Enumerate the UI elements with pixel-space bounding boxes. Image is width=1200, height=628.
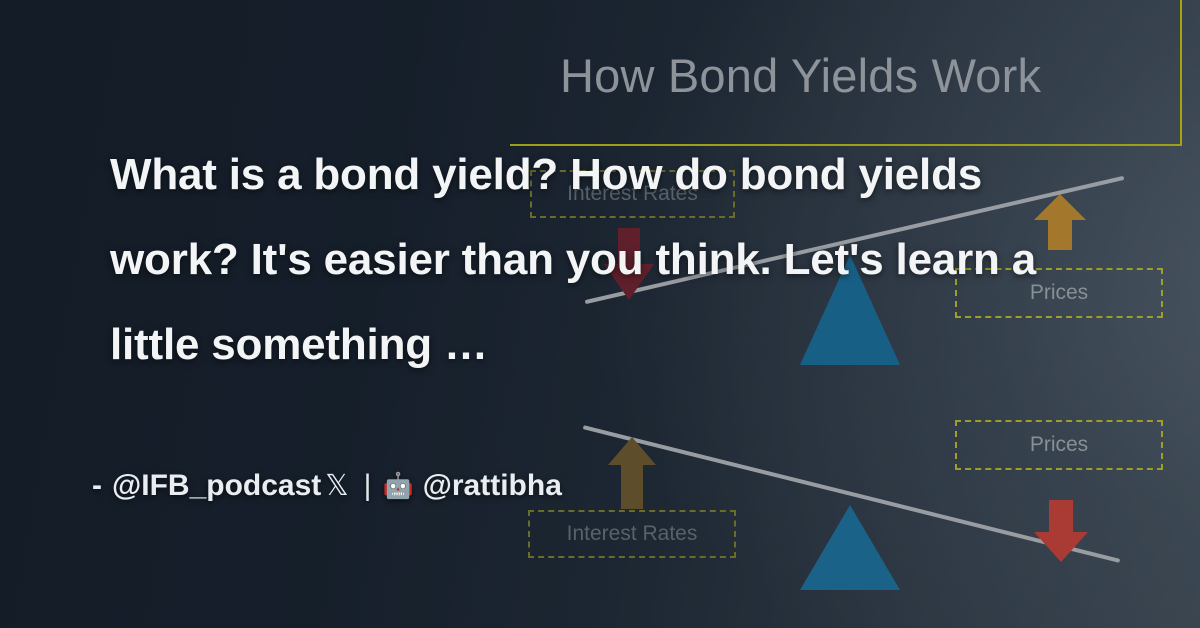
page-title: What is a bond yield? How do bond yields… <box>110 132 1110 387</box>
source-handle[interactable]: @rattibha <box>423 469 562 503</box>
attribution-dash: - <box>92 469 102 503</box>
attribution-separator: | <box>353 469 383 503</box>
author-handle[interactable]: @IFB_podcast <box>112 469 321 503</box>
x-logo-icon: 𝕏 <box>321 468 352 503</box>
robot-icon: 🤖 <box>382 474 422 499</box>
share-card: How Bond Yields Work Interest Rates Pric… <box>0 0 1200 628</box>
attribution: - @IFB_podcast 𝕏 | 🤖 @rattibha <box>92 468 562 503</box>
